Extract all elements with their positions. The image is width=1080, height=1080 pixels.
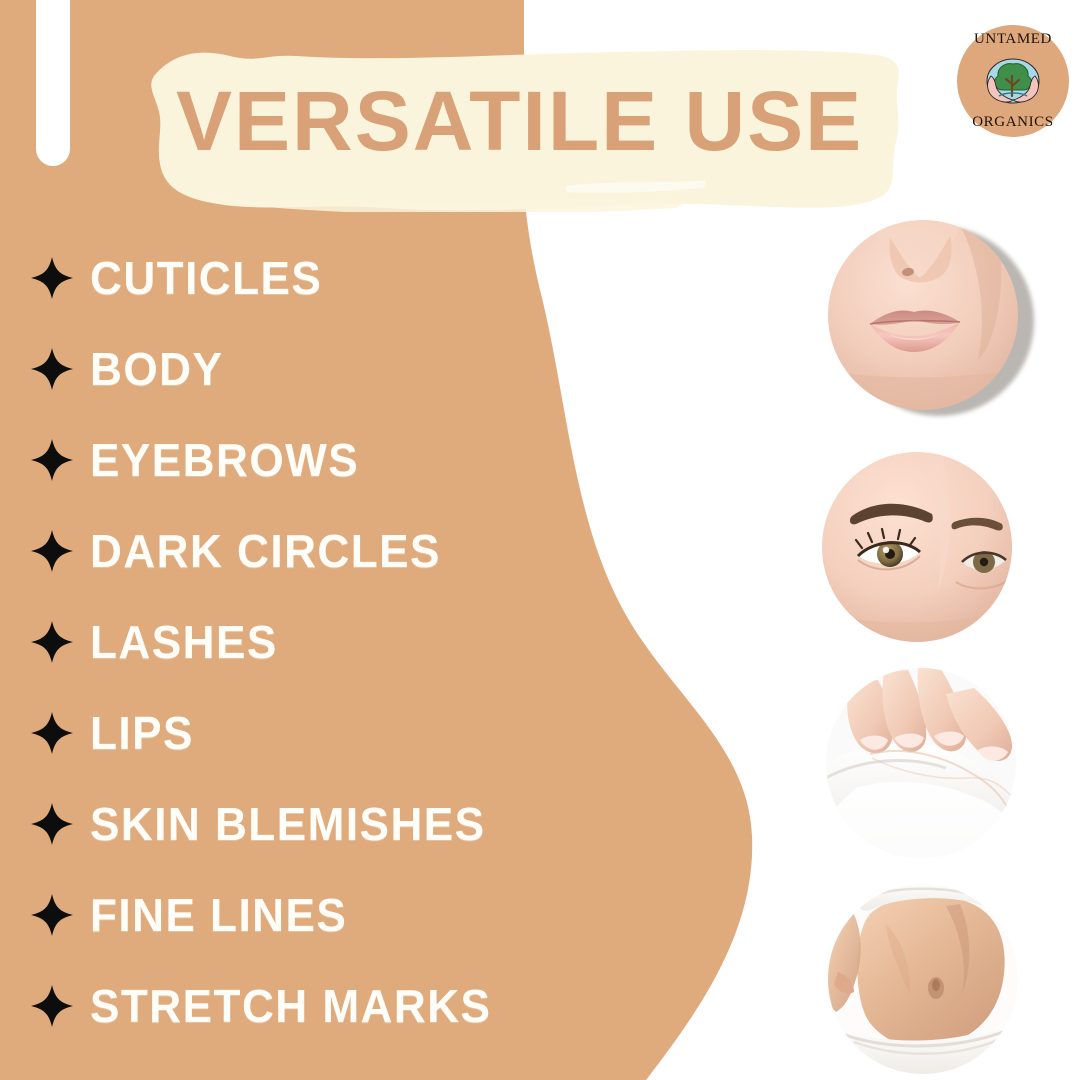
list-item: CUTICLES [30,232,590,323]
four-point-sparkle-icon [30,347,74,391]
brand-logo: UNTAMED ORGANICS [957,25,1069,137]
eyebrows-eyes-closeup-photo [822,452,1012,642]
four-point-sparkle-icon [30,529,74,573]
four-point-sparkle-icon [30,984,74,1028]
four-point-sparkle-icon [30,438,74,482]
hands-nails-closeup-photo [826,668,1016,858]
list-item: EYEBROWS [30,414,590,505]
list-item-label: STRETCH MARKS [90,983,491,1029]
list-item: SKIN BLEMISHES [30,778,590,869]
four-point-sparkle-icon [30,711,74,755]
list-item-label: SKIN BLEMISHES [90,801,486,847]
list-item: LIPS [30,687,590,778]
list-item-label: FINE LINES [90,892,347,938]
four-point-sparkle-icon [30,256,74,300]
list-item: BODY [30,323,590,414]
page-title: VERSATILE USE [176,66,876,176]
list-item: DARK CIRCLES [30,505,590,596]
list-item: LASHES [30,596,590,687]
four-point-sparkle-icon [30,893,74,937]
list-item-label: BODY [90,346,223,392]
accent-bar [36,0,70,166]
tree-in-hands-icon [977,56,1049,106]
list-item: FINE LINES [30,869,590,960]
logo-bottom-word: ORGANICS [972,115,1053,130]
promo-graphic-canvas: VERSATILE USE UNTAMED ORGANICS CUTICLES … [0,0,1080,1080]
four-point-sparkle-icon [30,802,74,846]
versatile-use-list: CUTICLES BODY EYEBROWS DARK CIRCLES LASH [30,232,590,1051]
four-point-sparkle-icon [30,620,74,664]
list-item-label: LIPS [90,710,194,756]
list-item-label: DARK CIRCLES [90,528,441,574]
list-item-label: CUTICLES [90,255,322,301]
logo-top-word: UNTAMED [974,32,1052,47]
torso-belly-closeup-photo [828,884,1018,1074]
list-item-label: EYEBROWS [90,437,359,483]
list-item-label: LASHES [90,619,278,665]
list-item: STRETCH MARKS [30,960,590,1051]
lips-closeup-photo [828,220,1018,410]
